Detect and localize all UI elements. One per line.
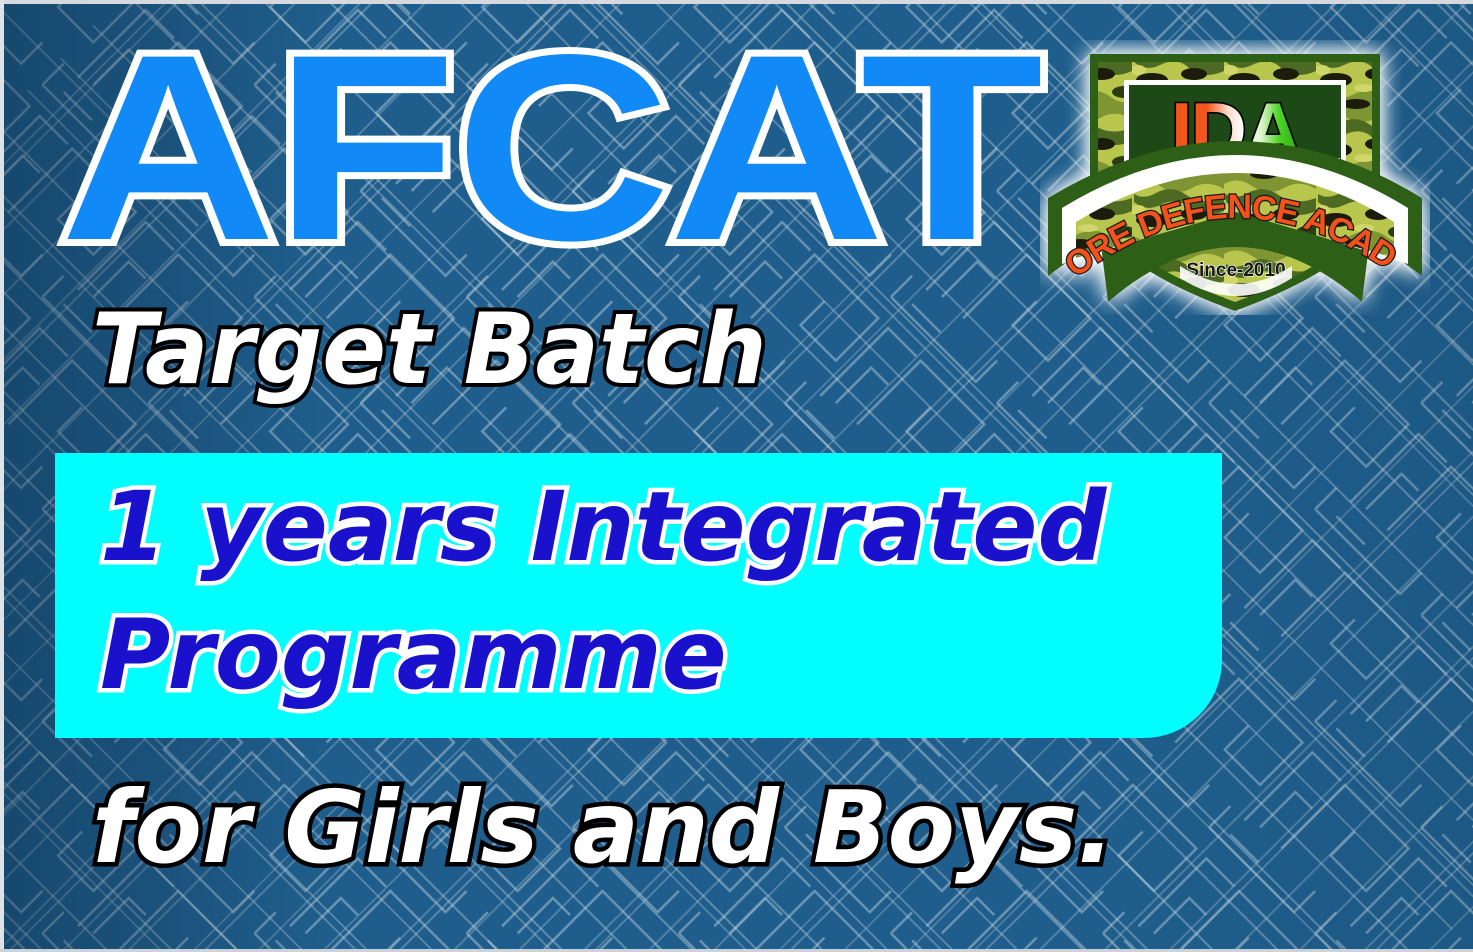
highlight-line-2: Programme bbox=[100, 591, 1106, 719]
subtitle-text: Target Batch bbox=[92, 296, 767, 404]
footer-text: for Girls and Boys. bbox=[92, 772, 1114, 884]
edge-border-left bbox=[0, 0, 4, 952]
poster-canvas: AFCAT Target Batch 1 years Integrated Pr… bbox=[0, 0, 1473, 952]
institute-logo: IDA Residential INDORE DEFENCE ACADEMY S… bbox=[1040, 40, 1430, 315]
highlight-line-1: 1 years Integrated bbox=[100, 463, 1106, 591]
highlight-panel: 1 years Integrated Programme bbox=[55, 453, 1222, 738]
headline-title: AFCAT bbox=[60, 16, 1041, 281]
logo-glow-group: IDA Residential INDORE DEFENCE ACADEMY S… bbox=[1040, 40, 1422, 311]
highlight-panel-text: 1 years Integrated Programme bbox=[100, 463, 1106, 719]
